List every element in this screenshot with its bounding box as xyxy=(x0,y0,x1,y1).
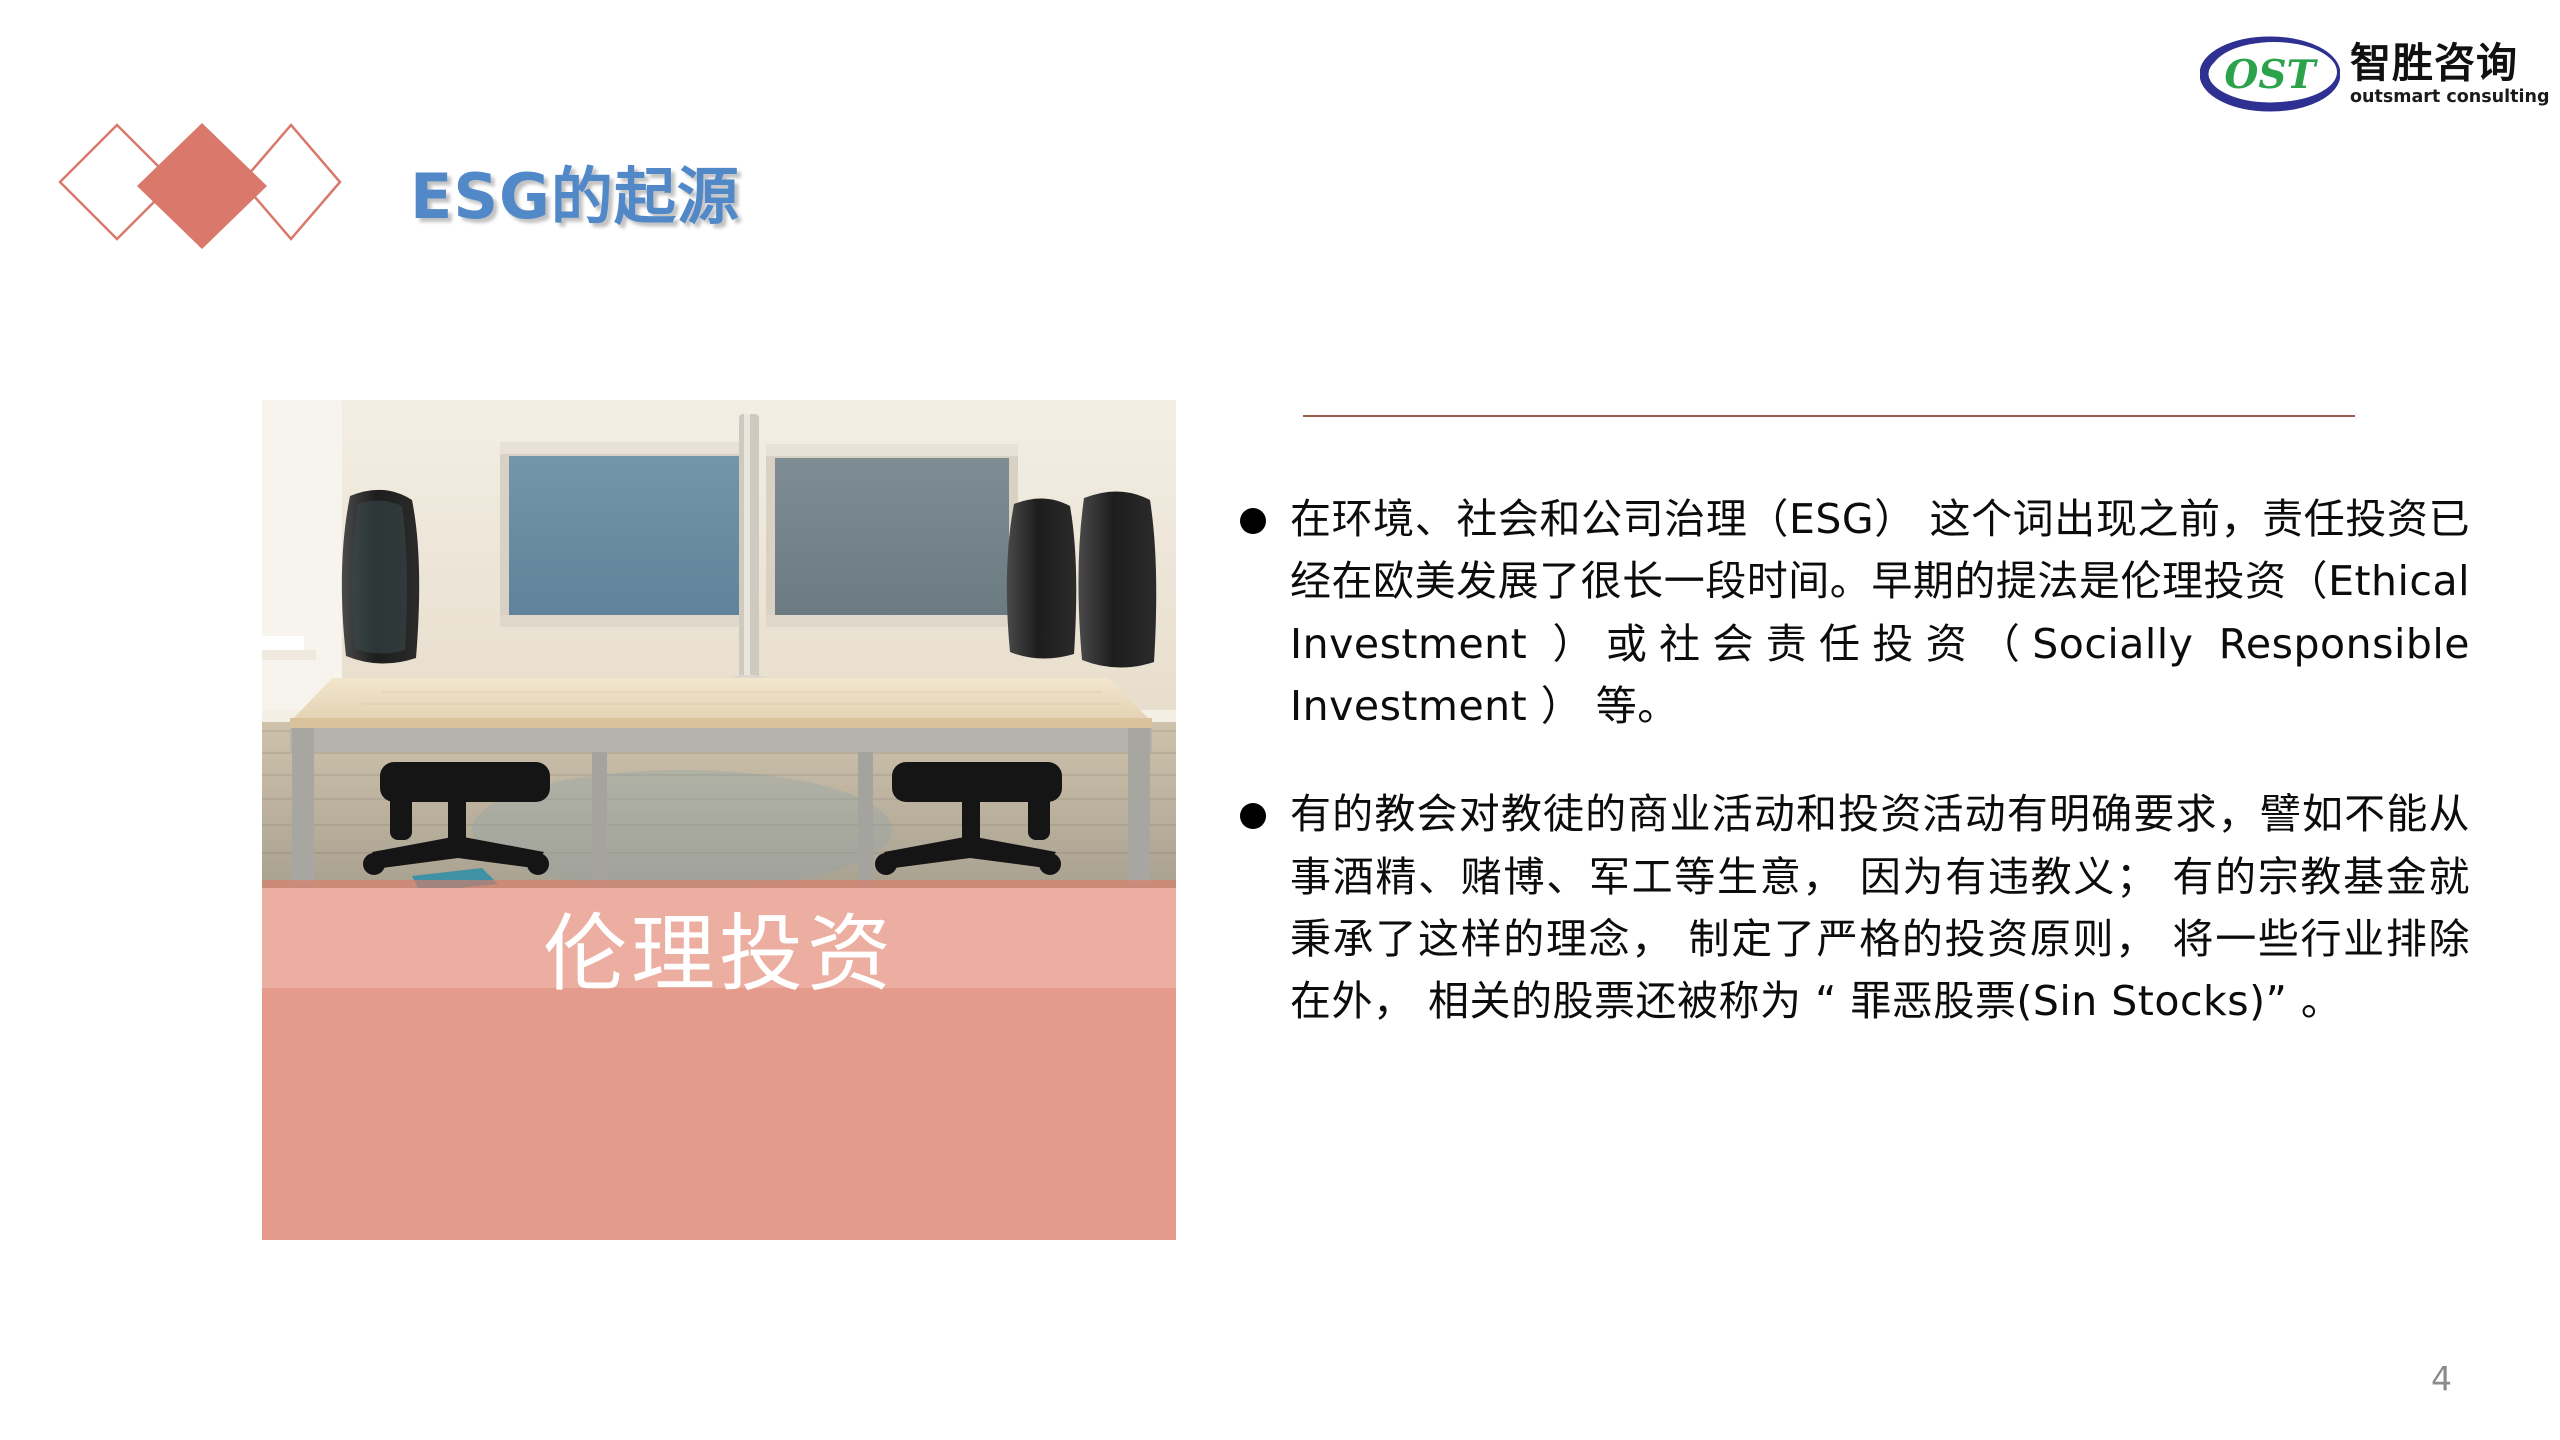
diamond-filled-center xyxy=(137,123,267,249)
diamond-decoration xyxy=(55,120,345,250)
bullet-text: 有的教会对教徒的商业活动和投资活动有明确要求，譬如不能从事酒精、赌博、军工等生意… xyxy=(1290,783,2470,1032)
bullet-list: 在环境、社会和公司治理（ESG） 这个词出现之前，责任投资已经在欧美发展了很长一… xyxy=(1240,488,2470,1033)
bullet-dot-icon xyxy=(1240,508,1266,534)
list-item: 在环境、社会和公司治理（ESG） 这个词出现之前，责任投资已经在欧美发展了很长一… xyxy=(1240,488,2470,737)
company-logo: OST 智胜咨询 outsmart consulting xyxy=(2200,28,2540,120)
page-title: ESG的起源 xyxy=(410,146,740,236)
ost-logo-mark-icon: OST xyxy=(2200,36,2340,112)
logo-wordmark: 智胜咨询 outsmart consulting xyxy=(2350,41,2549,107)
coral-color-block xyxy=(262,988,1176,1240)
page-number: 4 xyxy=(2431,1359,2452,1398)
bullet-dot-icon xyxy=(1240,803,1266,829)
logo-company-name-cn: 智胜咨询 xyxy=(2350,43,2549,85)
svg-text:OST: OST xyxy=(2224,52,2318,98)
presentation-slide: OST 智胜咨询 outsmart consulting ESG的起源 xyxy=(0,0,2560,1440)
list-item: 有的教会对教徒的商业活动和投资活动有明确要求，譬如不能从事酒精、赌博、军工等生意… xyxy=(1240,783,2470,1032)
office-workspace-photo xyxy=(262,400,1176,888)
logo-company-name-en: outsmart consulting xyxy=(2350,88,2549,107)
media-caption: 伦理投资 xyxy=(262,912,1176,996)
content-divider xyxy=(1303,415,2355,417)
media-panel: 伦理投资 xyxy=(262,400,1176,1240)
bullet-text: 在环境、社会和公司治理（ESG） 这个词出现之前，责任投资已经在欧美发展了很长一… xyxy=(1290,488,2470,737)
